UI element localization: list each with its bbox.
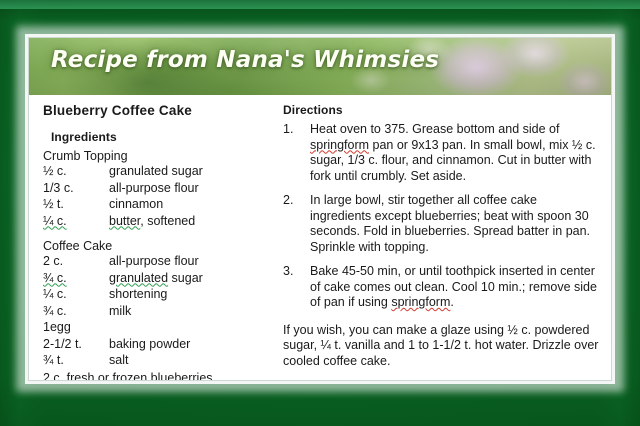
ingredient-qty: ¾ c. xyxy=(43,304,109,321)
ingredient-qty: ½ c. xyxy=(43,164,109,181)
group-spacer xyxy=(43,230,277,239)
ingredient-item: butter, softened xyxy=(109,214,203,231)
ingredient-row: ¼ c. shortening xyxy=(43,287,203,304)
direction-step: 1. Heat oven to 375. Grease bottom and s… xyxy=(283,122,601,184)
outer-green-frame: Recipe from Nana's Whimsies Blueberry Co… xyxy=(0,0,640,426)
ingredient-item: cinnamon xyxy=(109,197,203,214)
card-body: Blueberry Coffee Cake Ingredients Crumb … xyxy=(29,95,611,381)
ingredient-qty: ½ t. xyxy=(43,197,109,214)
ingredient-qty: 2-1/2 t. xyxy=(43,337,109,354)
step-number: 2. xyxy=(283,193,310,255)
ingredient-row: 1/3 c. all-purpose flour xyxy=(43,181,203,198)
ingredient-row: ½ c. granulated sugar xyxy=(43,164,203,181)
ingredient-row: 2-1/2 t. baking powder xyxy=(43,337,203,354)
ingredient-table-crumb-topping: ½ c. granulated sugar 1/3 c. all-purpose… xyxy=(43,164,203,230)
ingredient-row: 2 c. all-purpose flour xyxy=(43,254,203,271)
ingredient-row: ½ t. cinnamon xyxy=(43,197,203,214)
ingredient-qty: ¼ c. xyxy=(43,287,109,304)
ingredient-qty: ¼ c. xyxy=(43,214,109,231)
ingredient-row: ¾ c. granulated sugar xyxy=(43,271,203,288)
step-number: 1. xyxy=(283,122,310,184)
step-number: 3. xyxy=(283,264,310,311)
ingredient-row: 1egg xyxy=(43,320,203,337)
ingredient-qty: ¾ t. xyxy=(43,353,109,370)
directions-column: Directions 1. Heat oven to 375. Grease b… xyxy=(277,103,611,381)
ingredient-row: ¾ t. salt xyxy=(43,353,203,370)
step-text: Heat oven to 375. Grease bottom and side… xyxy=(310,122,601,184)
ingredient-row: ¾ c. milk xyxy=(43,304,203,321)
directions-list: 1. Heat oven to 375. Grease bottom and s… xyxy=(283,122,601,311)
ingredient-qty: 1egg xyxy=(43,320,109,337)
step-text: Bake 45-50 min, or until toothpick inser… xyxy=(310,264,601,311)
ingredients-heading: Ingredients xyxy=(51,130,277,144)
ingredient-table-coffee-cake: 2 c. all-purpose flour ¾ c. granulated s… xyxy=(43,254,203,370)
directions-heading: Directions xyxy=(283,103,601,117)
ingredient-row: ¼ c. butter, softened xyxy=(43,214,203,231)
recipe-title: Blueberry Coffee Cake xyxy=(43,103,277,118)
ingredient-item: granulated sugar xyxy=(109,271,203,288)
ingredient-item: milk xyxy=(109,304,203,321)
ingredient-qty: 1/3 c. xyxy=(43,181,109,198)
ingredient-item xyxy=(109,320,203,337)
direction-step: 3. Bake 45-50 min, or until toothpick in… xyxy=(283,264,601,311)
ingredient-item: baking powder xyxy=(109,337,203,354)
ingredient-item: all-purpose flour xyxy=(109,254,203,271)
glaze-note: If you wish, you can make a glaze using … xyxy=(283,323,601,370)
ingredient-item: all-purpose flour xyxy=(109,181,203,198)
recipe-card: Recipe from Nana's Whimsies Blueberry Co… xyxy=(28,37,612,381)
ingredients-column: Blueberry Coffee Cake Ingredients Crumb … xyxy=(29,103,277,381)
direction-step: 2. In large bowl, stir together all coff… xyxy=(283,193,601,255)
ingredient-item: salt xyxy=(109,353,203,370)
banner-title: Recipe from Nana's Whimsies xyxy=(51,47,439,73)
ingredient-final-line: 2 c. fresh or frozen blueberries xyxy=(43,370,277,382)
header-banner-image: Recipe from Nana's Whimsies xyxy=(29,38,611,95)
step-text: In large bowl, stir together all coffee … xyxy=(310,193,601,255)
ingredient-qty: ¾ c. xyxy=(43,271,109,288)
ingredient-item: granulated sugar xyxy=(109,164,203,181)
ingredient-group-name: Coffee Cake xyxy=(43,239,277,253)
ingredient-item: shortening xyxy=(109,287,203,304)
ingredient-qty: 2 c. xyxy=(43,254,109,271)
ingredient-group-name: Crumb Topping xyxy=(43,149,277,163)
